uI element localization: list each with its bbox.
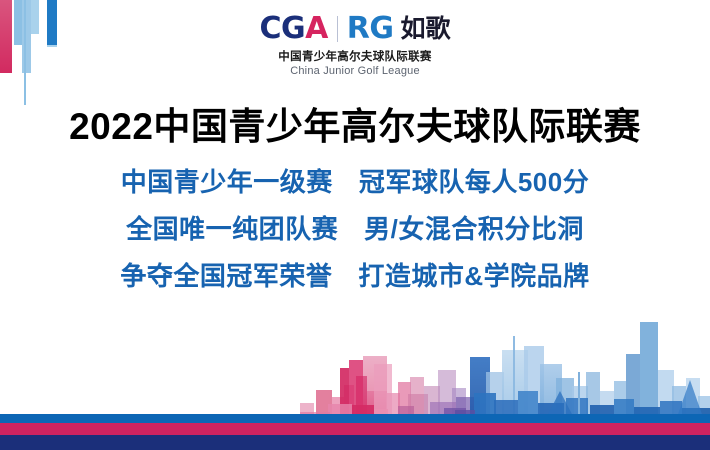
feature-row: 中国青少年一级赛 冠军球队每人500分 [0,162,710,209]
skyline-buildings-blue [470,322,710,420]
logo-wordmark-row: CGA RG 如歌 [0,14,710,44]
footer-stripe-blue [0,414,710,423]
feature-right-text: 男/女混合积分比洞 [364,209,584,246]
feature-right-text: 冠军球队每人500分 [359,162,589,199]
rugo-wordmark: 如歌 [401,17,451,42]
cga-wordmark-cg: CG [259,11,305,46]
feature-left-text: 全国唯一纯团队赛 [126,209,338,246]
city-skyline-graphic [0,260,710,420]
feature-row: 全国唯一纯团队赛 男/女混合积分比洞 [0,209,710,256]
cga-wordmark: CGA [259,14,327,44]
feature-left-text: 中国青少年一级赛 [121,162,333,199]
skyline-buildings-pink [300,356,411,420]
footer-stripe-navy [0,435,710,450]
logo-subtitle-cn: 中国青少年高尔夫球队际联赛 [0,48,710,64]
logo-divider [337,16,338,42]
logo-subtitle-en: China Junior Golf League [0,65,710,77]
footer-stripe-pink [0,423,710,435]
cga-wordmark-a: A [305,11,328,46]
logo-lockup: CGA RG 如歌 中国青少年高尔夫球队际联赛 China Junior Gol… [0,14,710,77]
page-title: 2022中国青少年高尔夫球队际联赛 [0,96,710,150]
rg-wordmark: RG [347,14,394,44]
poster-canvas: CGA RG 如歌 中国青少年高尔夫球队际联赛 China Junior Gol… [0,0,710,450]
